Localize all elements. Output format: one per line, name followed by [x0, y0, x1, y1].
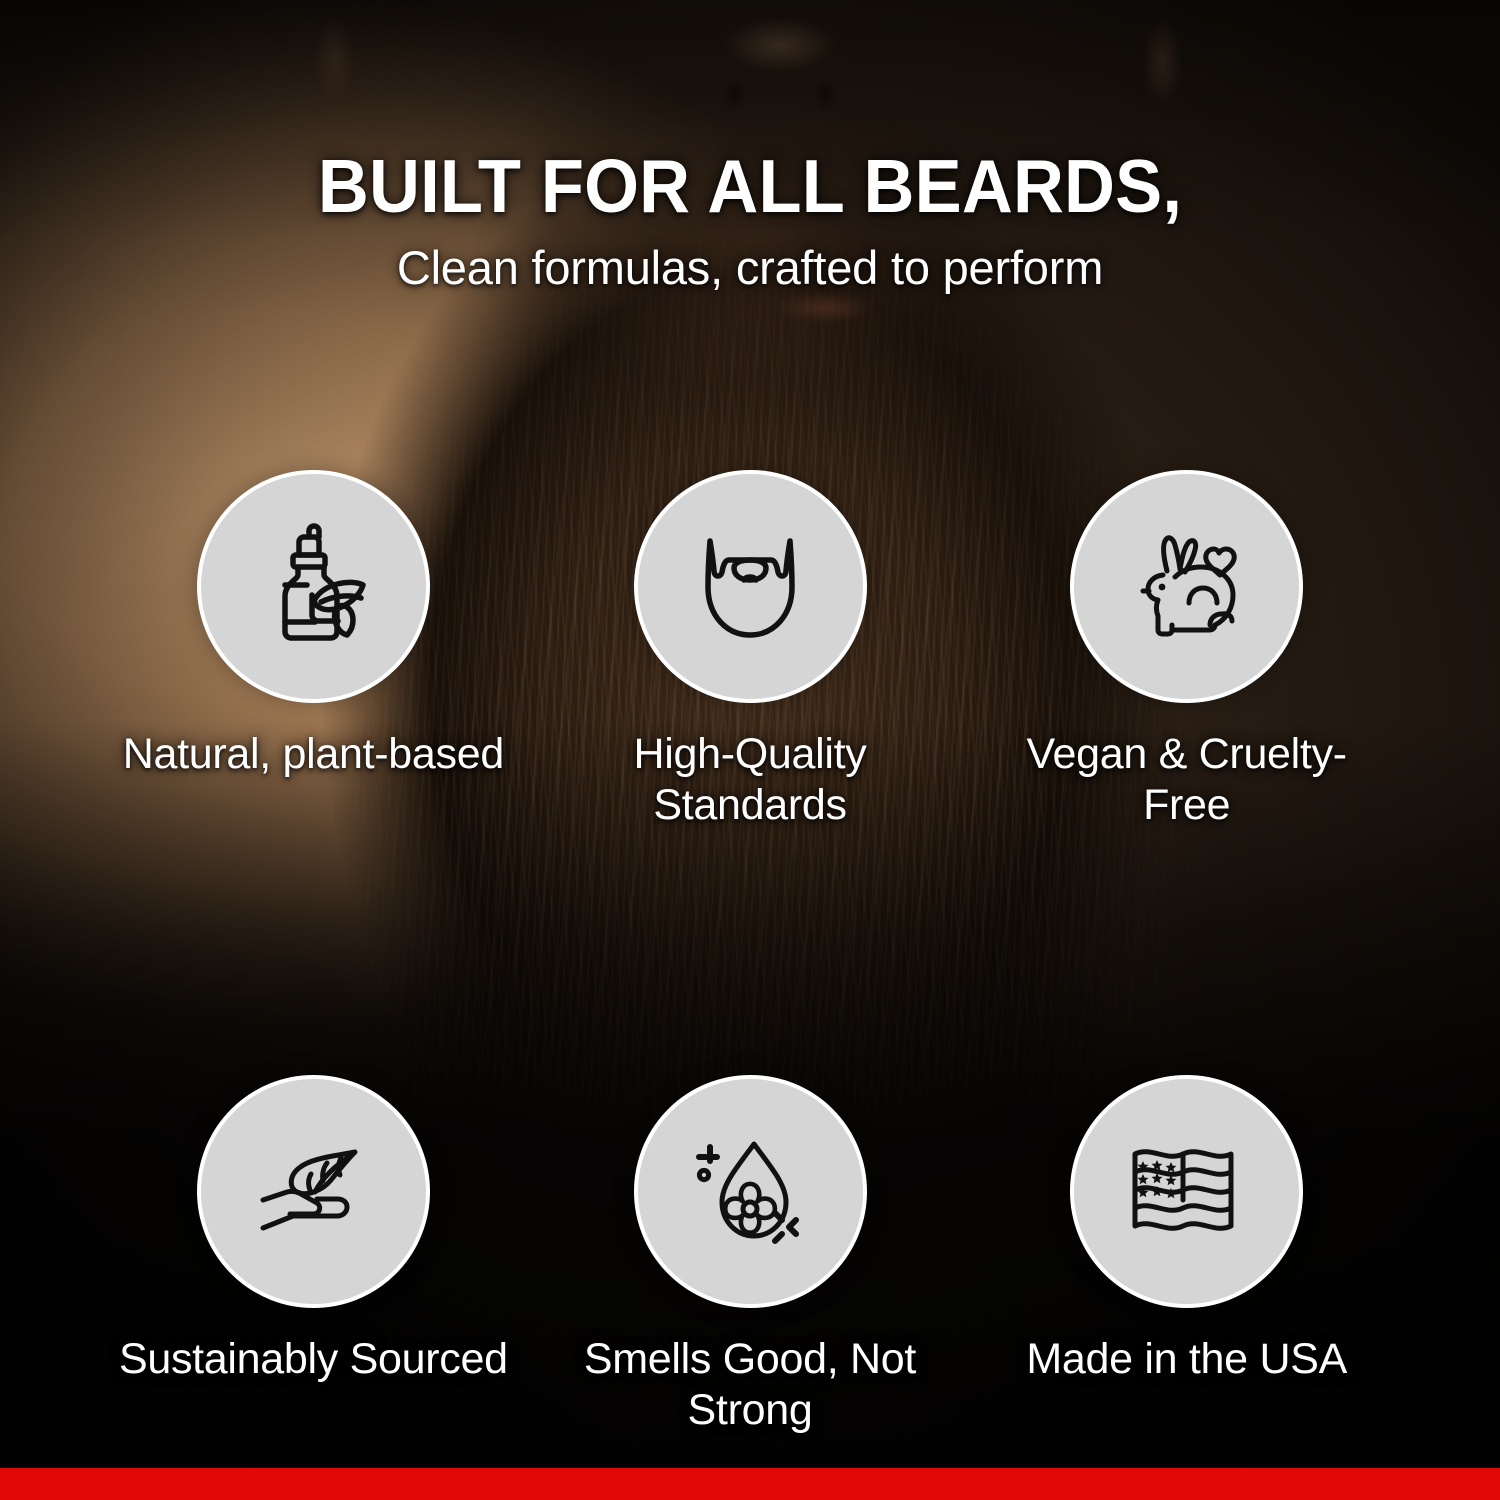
feature-label: Sustainably Sourced: [119, 1334, 508, 1385]
feature-item-made-in-usa: Made in the USA: [968, 1075, 1405, 1435]
page-title: BUILT FOR ALL BEARDS,: [45, 148, 1455, 225]
badge-circle: [197, 470, 430, 703]
feature-label: Vegan & Cruelty-Free: [987, 729, 1387, 830]
badge-circle: [1070, 1075, 1303, 1308]
feature-label: High-Quality Standards: [550, 729, 950, 830]
page-subtitle: Clean formulas, crafted to perform: [0, 240, 1500, 295]
droplet-flower-icon: [686, 1128, 814, 1256]
feature-row: Natural, plant-based High-Quality Standa…: [95, 470, 1405, 830]
rabbit-heart-icon: [1123, 523, 1251, 651]
feature-item-vegan-cruelty-free: Vegan & Cruelty-Free: [968, 470, 1405, 830]
feature-row: Sustainably Sourced: [95, 1075, 1405, 1435]
feature-item-sustainably-sourced: Sustainably Sourced: [95, 1075, 532, 1435]
promo-banner: BUILT FOR ALL BEARDS, Clean formulas, cr…: [0, 0, 1500, 1500]
badge-circle: [634, 1075, 867, 1308]
feature-label: Natural, plant-based: [123, 729, 504, 780]
feature-label: Smells Good, Not Strong: [550, 1334, 950, 1435]
hand-leaf-icon: [249, 1128, 377, 1256]
badge-circle: [197, 1075, 430, 1308]
feature-grid: Natural, plant-based High-Quality Standa…: [95, 470, 1405, 1436]
content-overlay: BUILT FOR ALL BEARDS, Clean formulas, cr…: [0, 0, 1500, 1500]
feature-item-natural-plant-based: Natural, plant-based: [95, 470, 532, 830]
usa-flag-icon: [1123, 1128, 1251, 1256]
footer-accent-bar: [0, 1468, 1500, 1500]
feature-label: Made in the USA: [1026, 1334, 1347, 1385]
feature-item-high-quality-standards: High-Quality Standards: [532, 470, 969, 830]
badge-circle: [1070, 470, 1303, 703]
dropper-bottle-leaf-icon: [249, 523, 377, 651]
badge-circle: [634, 470, 867, 703]
feature-item-smells-good-not-strong: Smells Good, Not Strong: [532, 1075, 969, 1435]
beard-icon: [686, 523, 814, 651]
